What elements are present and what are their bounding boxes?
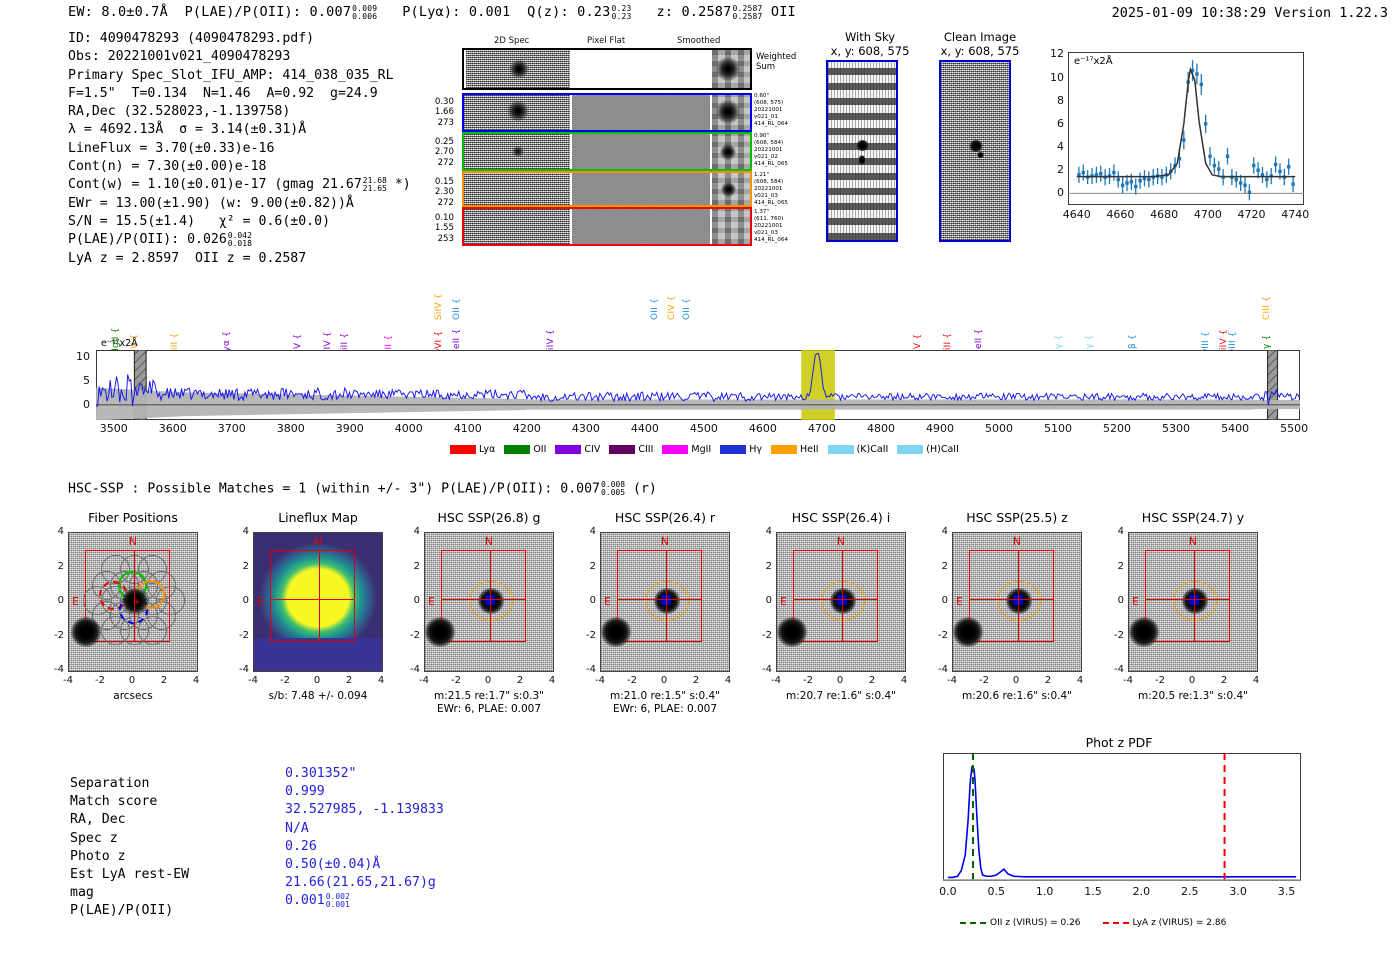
cutout-xtick: 4 (1067, 675, 1093, 686)
legend-label: MgII (691, 444, 711, 455)
compass-east: E (428, 595, 435, 608)
compass-north: N (837, 535, 845, 548)
compass-north: N (485, 535, 493, 548)
info-line-ewr: EWr = 13.00(±1.90) (w: 9.00(±0.82))Å (68, 195, 411, 213)
crosshair-vertical (842, 550, 843, 642)
info-line-redshifts: LyA z = 2.8597 OII z = 0.2587 (68, 250, 411, 268)
compass-east: E (780, 595, 787, 608)
hsc-header-value: 0.007 (560, 481, 600, 496)
hsc-header-lo: 0.005 (601, 488, 625, 497)
cutout-ytick: -2 (754, 630, 772, 641)
spectrum-xtick: 4900 (916, 422, 964, 435)
phot-z-xtick: 1.5 (1073, 885, 1113, 898)
spectrum-legend-item: (K)CaII (828, 444, 889, 455)
cutout-xtick: 2 (336, 675, 362, 686)
info-line-plae: P(LAE)/P(OII): 0.0260.0420.018 (68, 231, 411, 249)
phot-z-title: Phot z PDF (935, 735, 1303, 750)
cutout-ytick: -2 (402, 630, 420, 641)
cutout-xtick: 2 (151, 675, 177, 686)
spectrum-xtick: 4100 (444, 422, 492, 435)
spectrum-xtick: 5300 (1152, 422, 1200, 435)
clean-image (939, 60, 1011, 242)
neighbor-source (1129, 617, 1159, 647)
phot-z-xtick: 0.5 (976, 885, 1016, 898)
neighbor-source (425, 617, 455, 647)
phot-z-xtick: 3.5 (1266, 885, 1306, 898)
cutout-ytick: 2 (1106, 561, 1124, 572)
match-plae-value: 0.001 (285, 893, 325, 908)
cutout-ytick: 4 (231, 526, 249, 537)
spec2d-row-1 (462, 132, 752, 171)
spec2d-col-title-smoothed: Smoothed (677, 36, 720, 46)
z-value: 0.2587 (681, 4, 731, 20)
legend-swatch (720, 445, 746, 454)
spec2d-col-title-pixelflat: Pixel Flat (587, 36, 625, 46)
spectrum-xtick: 4200 (503, 422, 551, 435)
cutout-xtick: 0 (304, 675, 330, 686)
crosshair-vertical (319, 550, 320, 642)
spec2d-row-0-right: 0.60"(608, 575)20221001v021_01414_RL_064 (754, 93, 806, 128)
clean-image-coords: x, y: 608, 575 (925, 44, 1035, 58)
cutout-xtick: -4 (939, 675, 965, 686)
cutout-ytick: 0 (930, 595, 948, 606)
spectrum-legend-item: MgII (662, 444, 711, 455)
cont-w-lo: 21.65 (363, 184, 387, 193)
match-value: 21.66(21.65,21.67)g (285, 874, 436, 892)
spectrum-legend: LyαOIICIVCIIIMgIIHγHeII(K)CaII(H)CaII (450, 444, 959, 455)
spectrum-xtick: 3600 (149, 422, 197, 435)
spec2d-weighted-sum-label: Weighted Sum (756, 52, 808, 72)
spectrum-xtick: 4600 (739, 422, 787, 435)
zoom-ytick: 12 (1044, 47, 1064, 60)
legend-label: HeII (800, 444, 819, 455)
spectrum-legend-item: OII (504, 444, 546, 455)
spectrum-xtick: 4400 (621, 422, 669, 435)
compass-north: N (661, 535, 669, 548)
spectrum-xtick: 4300 (562, 422, 610, 435)
cutout-xtick: 2 (859, 675, 885, 686)
legend-label: Lyα (479, 444, 495, 455)
full-spectrum-chart: MgII {NV {SiII {Lyα {NV {CIV {SiII {CII … (68, 282, 1300, 457)
crosshair-vertical (666, 550, 667, 642)
zoom-xtick: 4740 (1276, 208, 1314, 221)
cutout-xtick: -2 (443, 675, 469, 686)
cutout-xtick: 4 (539, 675, 565, 686)
spectrum-xtick: 3500 (90, 422, 138, 435)
legend-label: (H)CaII (926, 444, 959, 455)
spectrum-xtick: 4500 (680, 422, 728, 435)
cutout-region-box (270, 550, 356, 642)
info-line-lineflux: LineFlux = 3.70(±0.33)e-16 (68, 140, 411, 158)
spectrum-xtick: 5200 (1093, 422, 1141, 435)
match-key: Spec z (70, 830, 118, 848)
cutout-title-4: HSC SSP(26.4) i (746, 510, 936, 525)
spectrum-legend-item: Lyα (450, 444, 495, 455)
cutout-xtick: 2 (683, 675, 709, 686)
cutout-title-6: HSC SSP(24.7) y (1098, 510, 1288, 525)
cutout-ytick: 2 (578, 561, 596, 572)
z-lo: 0.2587 (732, 12, 762, 21)
legend-label: OII (533, 444, 546, 455)
cutout-xtick: -2 (1147, 675, 1173, 686)
info-line-cont-n: Cont(n) = 7.30(±0.00)e-18 (68, 158, 411, 176)
phot-z-pdf-chart: Phot z PDF 0.00.51.01.52.02.53.03.5 (935, 735, 1303, 910)
cutout-caption: m:20.5 re:1.3" s:0.4" (1088, 690, 1298, 702)
cutout-xtick: -2 (87, 675, 113, 686)
cutout-title-2: HSC SSP(26.8) g (394, 510, 584, 525)
match-key: mag (70, 884, 94, 902)
cutout-xtick: 4 (891, 675, 917, 686)
match-key: RA, Dec (70, 811, 126, 829)
cutout-xtick: 0 (1003, 675, 1029, 686)
crosshair-vertical (1194, 550, 1195, 642)
cutout-xtick: 4 (1243, 675, 1269, 686)
phot-z-legend-item: OII z (VIRUS) = 0.26 (960, 918, 1081, 928)
cutout-caption: EWr: 6, PLAE: 0.007 (560, 703, 770, 715)
phot-z-canvas (943, 753, 1301, 881)
zoom-ytick: 6 (1044, 117, 1064, 130)
clean-image-title: Clean Image x, y: 608, 575 (925, 30, 1035, 58)
spec2d-row-3-left: 0.101.55253 (420, 213, 454, 244)
zoom-plot-canvas (1068, 52, 1304, 205)
legend-swatch (504, 445, 530, 454)
crosshair-horizontal (793, 599, 879, 600)
info-line-primary-spec: Primary Spec_Slot_IFU_AMP: 414_038_035_R… (68, 67, 411, 85)
cutout-ytick: -4 (402, 664, 420, 675)
cutout-ytick: -2 (930, 630, 948, 641)
legend-swatch (662, 445, 688, 454)
legend-label: CIV (584, 444, 600, 455)
match-key: Match score (70, 793, 157, 811)
cont-w-suffix: *) (395, 177, 411, 192)
spectrum-xtick: 4700 (798, 422, 846, 435)
spectrum-legend-item: CIV (555, 444, 600, 455)
cutout-ytick: -2 (578, 630, 596, 641)
info-plae-lo: 0.018 (228, 239, 252, 248)
spectrum-xtick: 5400 (1211, 422, 1259, 435)
cutout-title-0: Fiber Positions (38, 510, 228, 525)
match-value: 0.301352" (285, 765, 356, 783)
cutout-ytick: 4 (1106, 526, 1124, 537)
compass-east: E (72, 595, 79, 608)
cutout-xtick: -2 (619, 675, 645, 686)
compass-north: N (1013, 535, 1021, 548)
cutout-xtick: 2 (1035, 675, 1061, 686)
cutout-xtick: 0 (1179, 675, 1205, 686)
spectrum-xtick: 5000 (975, 422, 1023, 435)
cutout-image-2[interactable]: NE (424, 532, 554, 672)
match-key: Separation (70, 775, 149, 793)
match-value: 32.527985, -1.139833 (285, 801, 444, 819)
cutout-xtick: 0 (651, 675, 677, 686)
spectrum-xtick: 4000 (385, 422, 433, 435)
spectrum-line-label-CIII: CIII { (1262, 296, 1272, 320)
cutout-ytick: 2 (46, 561, 64, 572)
phot-z-xtick: 3.0 (1218, 885, 1258, 898)
spectrum-legend-item: (H)CaII (897, 444, 959, 455)
crosshair-horizontal (441, 599, 527, 600)
spectrum-legend-item: HeII (771, 444, 819, 455)
compass-north: N (314, 535, 322, 548)
match-value: 0.50(±0.04)Å (285, 856, 380, 874)
match-key: Est LyA rest-EW (70, 866, 189, 884)
cutout-xtick: 2 (1211, 675, 1237, 686)
info-line-sn: S/N = 15.5(±1.4) χ² = 0.6(±0.0) (68, 213, 411, 231)
info-line-params: F=1.5" T=0.134 N=1.46 A=0.92 g=24.9 (68, 85, 411, 103)
phot-z-legend-item: LyA z (VIRUS) = 2.86 (1103, 918, 1227, 928)
spectrum-ytick: 10 (68, 350, 90, 363)
legend-label: Hγ (749, 444, 762, 455)
plae-lo: 0.006 (352, 12, 377, 21)
cutout-xtick: -4 (587, 675, 613, 686)
crosshair-vertical (490, 550, 491, 642)
legend-swatch (771, 445, 797, 454)
spec2d-col-title-2dspec: 2D Spec (494, 36, 529, 46)
phot-z-legend: OII z (VIRUS) = 0.26LyA z (VIRUS) = 2.86 (960, 918, 1226, 928)
cutout-ytick: -4 (930, 664, 948, 675)
legend-label: OII z (VIRUS) = 0.26 (990, 918, 1081, 928)
plae-value: 0.007 (310, 4, 352, 20)
spec2d-row-2 (462, 171, 752, 207)
cutout-ytick: 2 (930, 561, 948, 572)
zoom-xtick: 4700 (1189, 208, 1227, 221)
neighbor-source (601, 617, 631, 647)
info-line-wavelength: λ = 4692.13Å σ = 3.14(±0.31)Å (68, 121, 411, 139)
crosshair-horizontal (1145, 599, 1231, 600)
crosshair-horizontal (270, 599, 356, 600)
cutout-image-6[interactable]: NE (1128, 532, 1258, 672)
spectrum-xtick: 5100 (1034, 422, 1082, 435)
cutout-image-5[interactable]: NE (952, 532, 1082, 672)
cutout-xtick: -4 (411, 675, 437, 686)
info-line-obs: Obs: 20221001v021_4090478293 (68, 48, 411, 66)
cutout-image-1[interactable]: NE (253, 532, 383, 672)
spectrum-ytick: 0 (68, 398, 90, 411)
zoom-xtick: 4680 (1145, 208, 1183, 221)
cutout-caption: arcsecs (28, 690, 238, 702)
qz-value: 0.23 (577, 4, 610, 20)
cutout-ytick: 0 (46, 595, 64, 606)
zoom-ytick: 4 (1044, 140, 1064, 153)
zoom-xtick: 4660 (1101, 208, 1139, 221)
compass-east: E (956, 595, 963, 608)
compass-east: E (257, 595, 264, 608)
spec2d-row-1-left: 0.252.70272 (420, 137, 454, 168)
neighbor-source (777, 617, 807, 647)
phot-z-xtick: 2.5 (1170, 885, 1210, 898)
cutout-ytick: -2 (46, 630, 64, 641)
compass-east: E (604, 595, 611, 608)
cutout-xtick: 0 (827, 675, 853, 686)
info-plae-prefix: P(LAE)/P(OII): 0.026 (68, 232, 227, 247)
hsc-header-prefix: HSC-SSP : Possible Matches = 1 (within +… (68, 481, 552, 496)
spectrum-annotation: e⁻¹⁷x2Å (101, 338, 138, 349)
ew-label: EW: (68, 4, 93, 20)
cutout-xtick: 0 (119, 675, 145, 686)
spec2d-row-0-left: 0.301.66273 (420, 97, 454, 128)
cutout-ytick: 4 (930, 526, 948, 537)
legend-label: CIII (638, 444, 653, 455)
with-sky-coords: x, y: 608, 575 (820, 44, 920, 58)
cont-w-prefix: Cont(w) = 1.10(±0.01)e-17 (gmag 21.67 (68, 177, 362, 192)
cutout-ytick: 4 (754, 526, 772, 537)
cutout-ytick: -2 (1106, 630, 1124, 641)
info-line-id: ID: 4090478293 (4090478293.pdf) (68, 30, 411, 48)
legend-swatch (450, 445, 476, 454)
cutout-xtick: -4 (55, 675, 81, 686)
summary-header: EW: 8.0±0.7Å P(LAE)/P(OII): 0.0070.0090.… (68, 4, 796, 21)
legend-label: LyA z (VIRUS) = 2.86 (1133, 918, 1227, 928)
spectrum-canvas (96, 350, 1300, 420)
cutout-ytick: 4 (578, 526, 596, 537)
cutout-ytick: -4 (231, 664, 249, 675)
spectrum-line-label-OII: OII { (682, 298, 692, 320)
match-value: 0.26 (285, 838, 317, 856)
cutout-ytick: 0 (231, 595, 249, 606)
crosshair-horizontal (617, 599, 703, 600)
cutout-ytick: 0 (402, 595, 420, 606)
zoom-ytick: 10 (1044, 71, 1064, 84)
spectrum-ytick: 5 (68, 374, 90, 387)
spectrum-line-label-OII: OII { (650, 298, 660, 320)
spec2d-row-2-left: 0.152.30272 (420, 177, 454, 208)
cutout-title-1: Lineflux Map (223, 510, 413, 525)
cutout-xtick: 2 (507, 675, 533, 686)
match-key: P(LAE)/P(OII) (70, 902, 173, 920)
zoom-ytick: 2 (1044, 163, 1064, 176)
info-line-cont-w: Cont(w) = 1.10(±0.01)e-17 (gmag 21.6721.… (68, 176, 411, 194)
zoom-ytick: 0 (1044, 186, 1064, 199)
info-line-radec: RA,Dec (32.528023,-1.139758) (68, 103, 411, 121)
cutout-ytick: -4 (754, 664, 772, 675)
match-value: 0.0010.0020.001 (285, 892, 350, 910)
spectrum-legend-item: CIII (609, 444, 653, 455)
phot-z-xtick: 0.0 (928, 885, 968, 898)
legend-label: (K)CaII (857, 444, 889, 455)
cutout-ytick: 2 (402, 561, 420, 572)
legend-swatch (555, 445, 581, 454)
phot-z-xtick: 1.0 (1025, 885, 1065, 898)
cutout-title-3: HSC SSP(26.4) r (570, 510, 760, 525)
cutout-xtick: -2 (971, 675, 997, 686)
emission-line-zoom-chart: e⁻¹⁷x2Å 024681012 4640466046804700472047… (1034, 52, 1304, 227)
spectrum-line-label-SiIV: SiIV { (434, 293, 444, 320)
cutout-ytick: -4 (46, 664, 64, 675)
spec2d-weighted-sum-row (462, 48, 752, 90)
neighbor-source (953, 617, 983, 647)
neighbor-source (71, 617, 101, 647)
cutout-image-0[interactable]: NE+ (68, 532, 198, 672)
qz-lo: 0.23 (611, 12, 631, 21)
cutout-title-5: HSC SSP(25.5) z (922, 510, 1112, 525)
compass-north: N (1189, 535, 1197, 548)
cutout-ytick: -4 (578, 664, 596, 675)
spectrum-xtick: 3800 (267, 422, 315, 435)
cutout-xtick: -2 (272, 675, 298, 686)
with-sky-title: With Sky x, y: 608, 575 (820, 30, 920, 58)
spectrum-xtick: 5500 (1270, 422, 1318, 435)
legend-swatch (897, 445, 923, 454)
cutout-xtick: -4 (240, 675, 266, 686)
with-sky-image (826, 60, 898, 242)
cutout-xtick: 4 (183, 675, 209, 686)
cutout-ytick: 4 (46, 526, 64, 537)
cutout-ytick: 4 (402, 526, 420, 537)
match-value: N/A (285, 820, 309, 838)
legend-dash (1103, 922, 1129, 924)
ew-value: 8.0±0.7Å (101, 4, 168, 20)
match-value: 0.999 (285, 783, 325, 801)
cutout-image-3[interactable]: NE (600, 532, 730, 672)
match-key: Photo z (70, 848, 126, 866)
plae-label: P(LAE)/P(OII): (185, 4, 302, 20)
spectrum-xtick: 4800 (857, 422, 905, 435)
z-species: OII (771, 4, 796, 20)
compass-north: N (129, 535, 137, 548)
crosshair-vertical (134, 550, 135, 642)
cutout-ytick: -2 (231, 630, 249, 641)
cutout-ytick: 2 (231, 561, 249, 572)
cutout-xtick: -2 (795, 675, 821, 686)
hsc-ssp-header: HSC-SSP : Possible Matches = 1 (within +… (68, 481, 657, 497)
spec2d-row-0 (462, 93, 752, 132)
phot-z-xtick: 2.0 (1121, 885, 1161, 898)
with-sky-title-text: With Sky (820, 30, 920, 44)
plya-label: P(Lyα): (402, 4, 460, 20)
zoom-plot-annotation: e⁻¹⁷x2Å (1074, 56, 1113, 67)
spectrum-xtick: 3900 (326, 422, 374, 435)
crosshair-horizontal (969, 599, 1055, 600)
legend-dash (960, 922, 986, 924)
crosshair-vertical (1018, 550, 1019, 642)
legend-swatch (828, 445, 854, 454)
spectrum-line-label-CIV: CIV { (667, 295, 677, 320)
cutout-xtick: 0 (475, 675, 501, 686)
match-plae-lo: 0.001 (326, 900, 350, 909)
cutout-image-4[interactable]: NE (776, 532, 906, 672)
spectrum-xtick: 3700 (208, 422, 256, 435)
cutout-ytick: 0 (754, 595, 772, 606)
source-info-block: ID: 4090478293 (4090478293.pdf) Obs: 202… (68, 30, 411, 268)
cutout-xtick: 4 (368, 675, 394, 686)
spec2d-row-3-right: 1.37"(611, 760)20221001v021_03414_RL_064 (754, 209, 806, 244)
hsc-header-suffix: (r) (633, 481, 657, 496)
zoom-xtick: 4720 (1233, 208, 1271, 221)
cutout-xtick: -4 (763, 675, 789, 686)
clean-image-title-text: Clean Image (925, 30, 1035, 44)
cutout-xtick: -4 (1115, 675, 1141, 686)
zoom-ytick: 8 (1044, 94, 1064, 107)
compass-east: E (1132, 595, 1139, 608)
cutout-ytick: -4 (1106, 664, 1124, 675)
spectrum-legend-item: Hγ (720, 444, 762, 455)
cutout-ytick: 2 (754, 561, 772, 572)
legend-swatch (609, 445, 635, 454)
timestamp-version: 2025-01-09 10:38:29 Version 1.22.3 (1112, 5, 1388, 21)
z-label: z: (657, 4, 674, 20)
cutout-ytick: 0 (578, 595, 596, 606)
spec2d-row-2-right: 1.21"(608, 584)20221001v021_03414_RL_065 (754, 172, 806, 207)
zoom-xtick: 4640 (1058, 208, 1096, 221)
plya-value: 0.001 (469, 4, 511, 20)
spec2d-row-3 (462, 207, 752, 246)
cutout-xtick: 4 (715, 675, 741, 686)
cutout-ytick: 0 (1106, 595, 1124, 606)
qz-label: Q(z): (527, 4, 569, 20)
spectrum-line-label-OII: OII { (452, 298, 462, 320)
spec2d-row-1-right: 0.90"(608, 584)20221001v021_02414_RL_065 (754, 133, 806, 168)
